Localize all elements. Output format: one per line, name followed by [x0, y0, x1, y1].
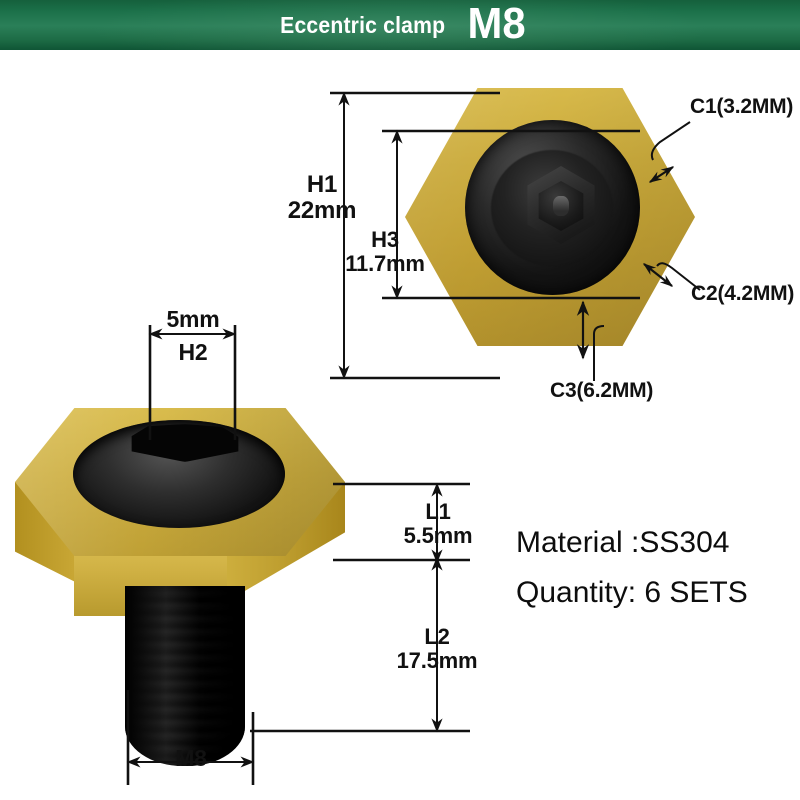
spec-quantity: Quantity: 6 SETS: [516, 568, 786, 618]
spec-material: Material :SS304: [516, 518, 786, 568]
eccentric-clamp-bolt-side-view: [15, 408, 345, 783]
dim-label-C1: C1(3.2MM): [690, 96, 793, 118]
dim-label-C2: C2(4.2MM): [691, 283, 794, 305]
dim-label-L1: L1 5.5mm: [390, 500, 486, 547]
dim-label-H2-value: 5mm: [150, 307, 236, 332]
product-subtitle: Eccentric clamp: [280, 12, 445, 39]
dim-label-L2: L2 17.5mm: [384, 625, 490, 672]
dim-label-M8: M8: [148, 746, 234, 771]
socket-center-pin: [553, 196, 569, 216]
hex-flange-top-view: [405, 88, 695, 376]
dim-label-H2: H2: [150, 340, 236, 365]
dim-label-H3: H3 11.7mm: [336, 228, 434, 275]
product-title-size: M8: [468, 2, 526, 46]
threaded-shank-shading: [125, 586, 245, 766]
dim-label-C3: C3(6.2MM): [550, 380, 653, 402]
header-banner: Eccentric clamp M8: [0, 0, 800, 50]
spec-text-block: Material :SS304 Quantity: 6 SETS: [516, 518, 786, 618]
dim-label-H1: H1 22mm: [284, 172, 360, 223]
product-spec-diagram: Eccentric clamp M8: [0, 0, 800, 800]
